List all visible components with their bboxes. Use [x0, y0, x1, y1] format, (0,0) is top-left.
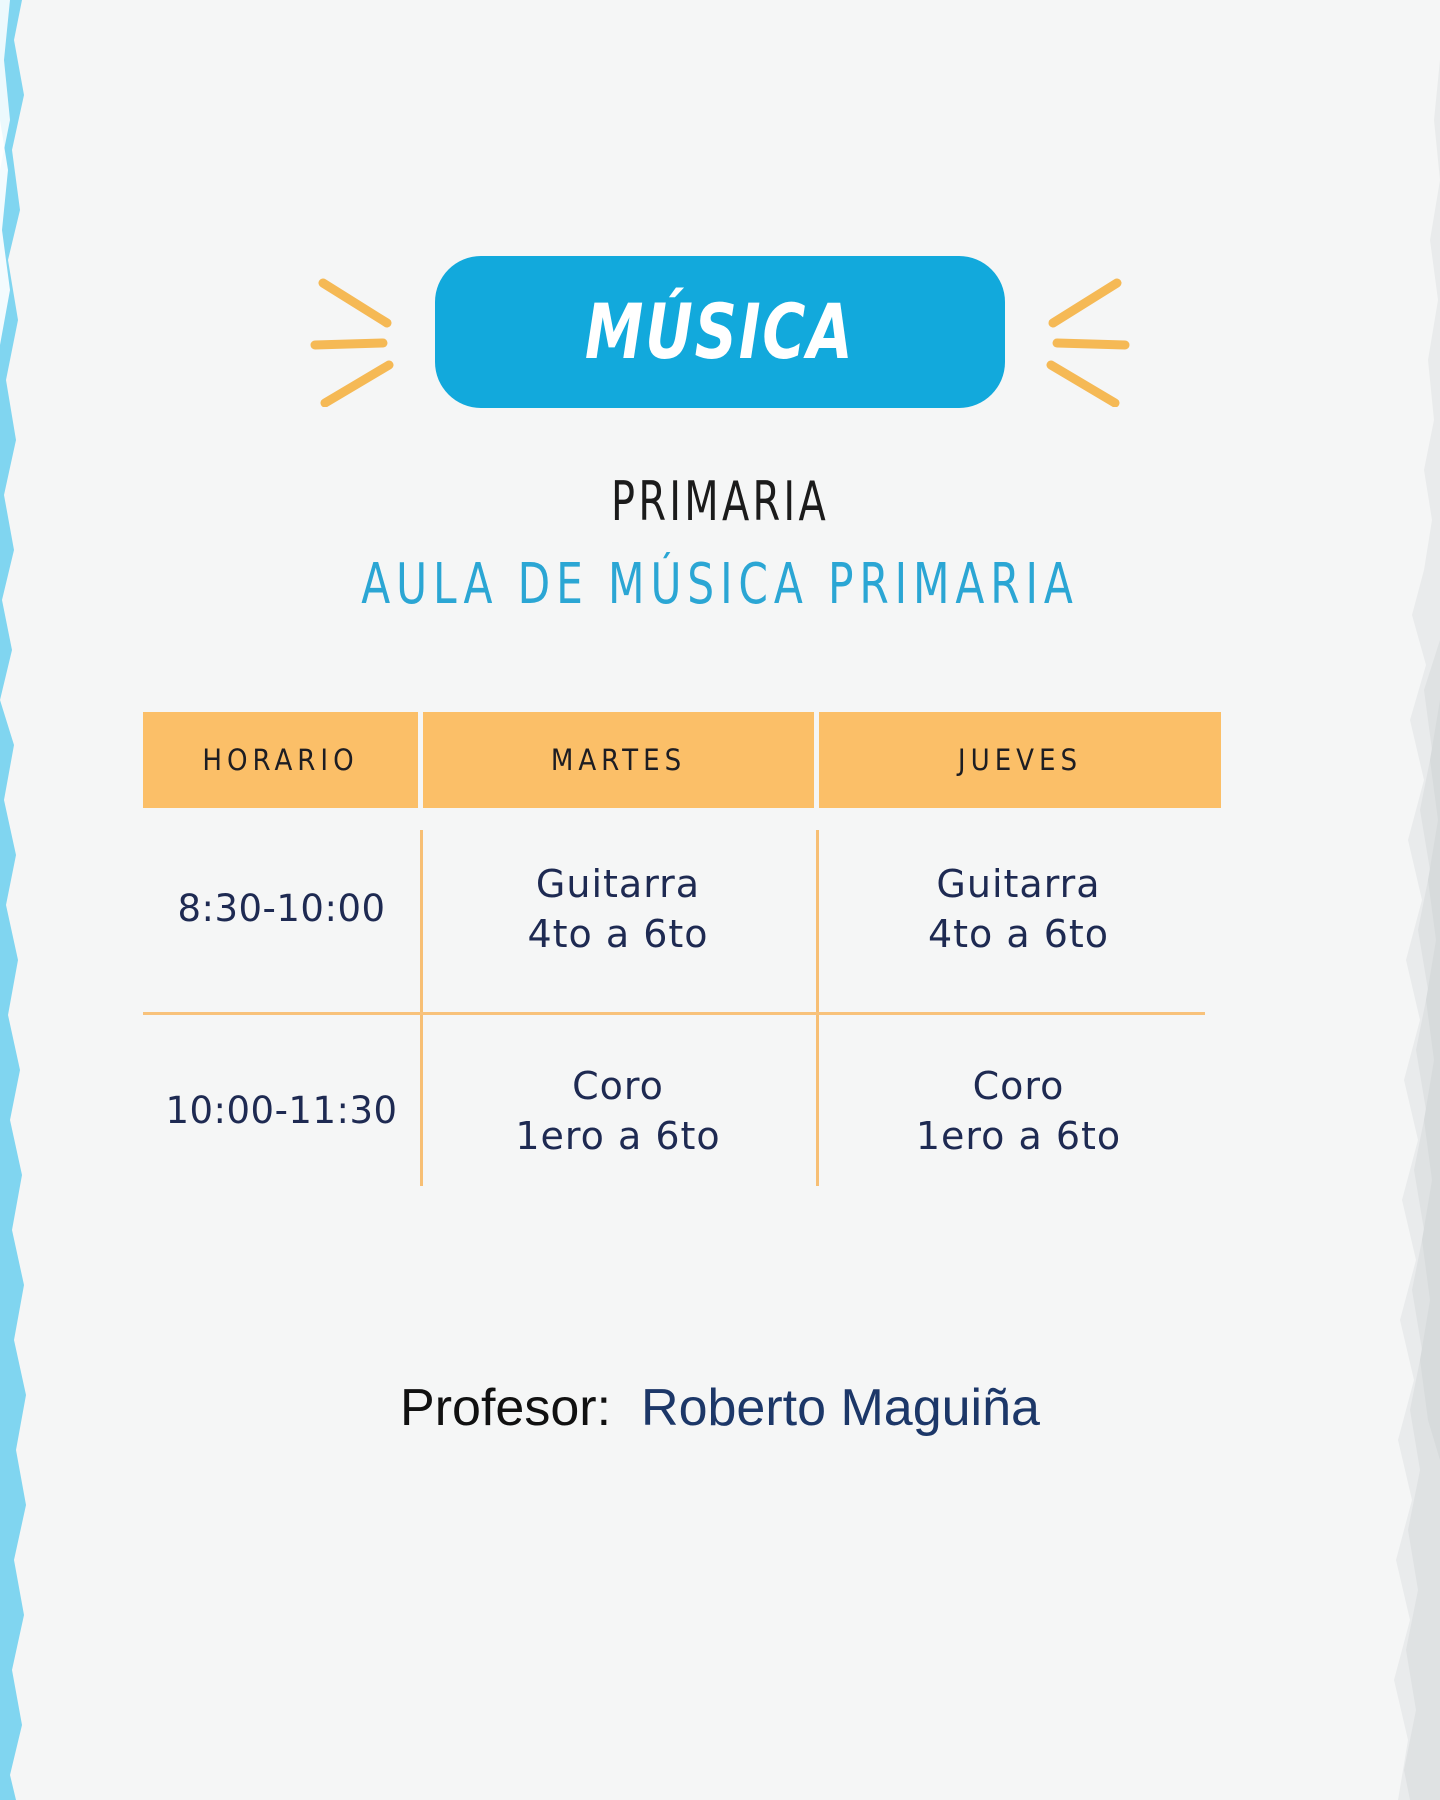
level-subtitle: PRIMARIA — [130, 470, 1311, 533]
subject-badge: MÚSICA — [435, 256, 1005, 408]
room-subtitle: AULA DE MÚSICA PRIMARIA — [115, 552, 1325, 617]
cell-grades: 1ero a 6to — [916, 1111, 1121, 1161]
teacher-label: Profesor: — [400, 1379, 611, 1437]
title-badge-row: MÚSICA — [0, 256, 1440, 408]
row-cell-martes: Coro 1ero a 6to — [420, 1010, 816, 1212]
sun-rays-right-icon — [1029, 257, 1139, 407]
cell-grades: 1ero a 6to — [515, 1111, 720, 1161]
sun-rays-left-icon — [301, 257, 411, 407]
teacher-name: Roberto Maguiña — [641, 1379, 1040, 1437]
cell-grades: 4to a 6to — [928, 909, 1109, 959]
teacher-line: Profesor:Roberto Maguiña — [0, 1378, 1440, 1438]
column-header-jueves: JUEVES — [819, 712, 1221, 808]
cell-course: Coro — [572, 1061, 664, 1111]
row-cell-martes: Guitarra 4to a 6to — [420, 808, 816, 1010]
row-time: 10:00-11:30 — [143, 1010, 420, 1212]
table-body: 8:30-10:00 Guitarra 4to a 6to Guitarra 4… — [143, 808, 1221, 1212]
column-header-horario: HORARIO — [143, 712, 418, 808]
cell-course: Guitarra — [936, 859, 1100, 909]
sun-rays-right-shape — [1029, 257, 1139, 407]
row-cell-jueves: Guitarra 4to a 6to — [816, 808, 1221, 1010]
row-time: 8:30-10:00 — [143, 808, 420, 1010]
row-cell-jueves: Coro 1ero a 6to — [816, 1010, 1221, 1212]
cell-grades: 4to a 6to — [527, 909, 708, 959]
column-header-martes: MARTES — [423, 712, 814, 808]
cell-course: Guitarra — [536, 859, 700, 909]
sun-rays-left-shape — [301, 257, 411, 407]
subject-title: MÚSICA — [585, 294, 854, 370]
cell-course: Coro — [973, 1061, 1065, 1111]
table-header-row: HORARIO MARTES JUEVES — [143, 712, 1221, 808]
schedule-table: HORARIO MARTES JUEVES 8:30-10:00 Guitarr… — [143, 712, 1221, 1212]
table-row: 8:30-10:00 Guitarra 4to a 6to Guitarra 4… — [143, 808, 1221, 1010]
table-row: 10:00-11:30 Coro 1ero a 6to Coro 1ero a … — [143, 1010, 1221, 1212]
